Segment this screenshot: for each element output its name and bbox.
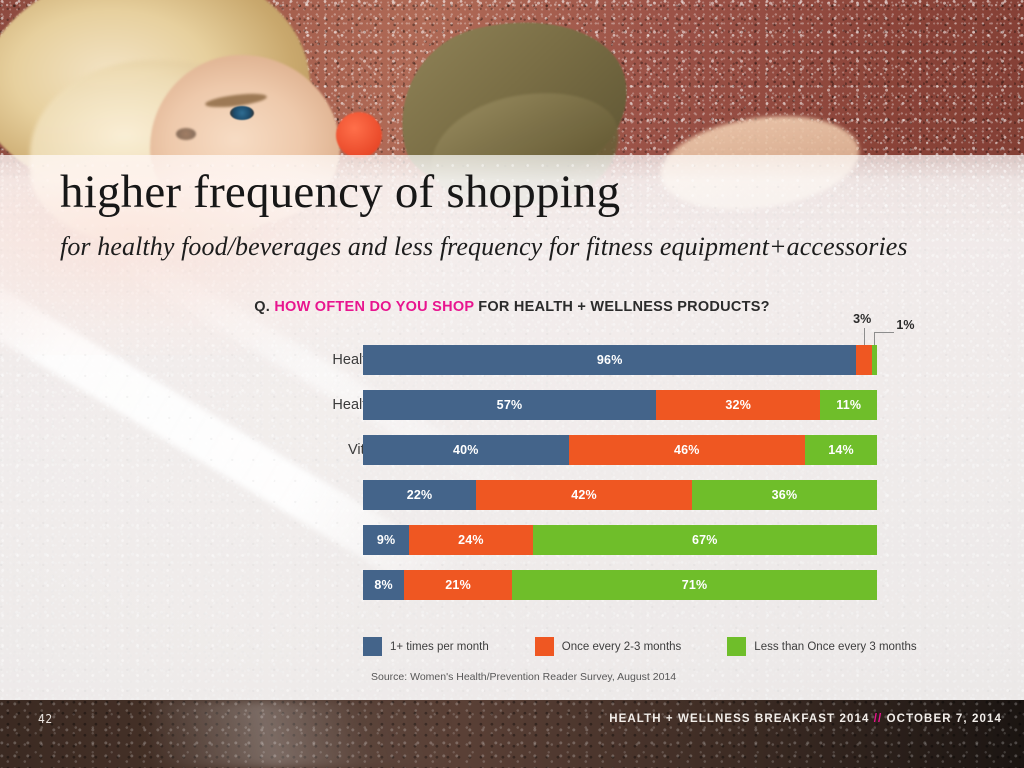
stacked-bar: 22%42%36% bbox=[363, 480, 877, 510]
bar-segment-value: 67% bbox=[692, 533, 718, 547]
stacked-bar: 96%3%1% bbox=[363, 345, 877, 375]
footer-event-label: HEALTH + WELLNESS BREAKFAST 2014 // OCTO… bbox=[609, 713, 1002, 725]
bar-segment-value: 14% bbox=[828, 443, 854, 457]
callout-leader-1-elbow bbox=[874, 332, 894, 333]
bar-segment: 40% bbox=[363, 435, 569, 465]
stacked-bar: 9%24%67% bbox=[363, 525, 877, 555]
slide: higher frequency of shopping for healthy… bbox=[0, 0, 1024, 768]
bar-segment: 24% bbox=[409, 525, 532, 555]
bar-segment-value: 8% bbox=[374, 578, 392, 592]
footer-highlight bbox=[150, 700, 450, 768]
bar-segment: 57% bbox=[363, 390, 656, 420]
legend-item[interactable]: Less than Once every 3 months bbox=[727, 637, 916, 656]
footer-bar bbox=[0, 700, 1024, 768]
bar-segment: 9% bbox=[363, 525, 409, 555]
bar-segment-value: 96% bbox=[597, 353, 623, 367]
stacked-bar: 40%46%14% bbox=[363, 435, 877, 465]
chart-row: Healthy Beauty Products57%32%11% bbox=[0, 390, 1024, 420]
bar-segment-value: 22% bbox=[407, 488, 433, 502]
bar-segment: 14% bbox=[805, 435, 877, 465]
chart-row: Fitness Accessories9%24%67% bbox=[0, 525, 1024, 555]
stacked-bar: 57%32%11% bbox=[363, 390, 877, 420]
bar-segment: 96% bbox=[363, 345, 856, 375]
callout-label-3: 3% bbox=[853, 312, 871, 326]
legend-label: Once every 2-3 months bbox=[562, 641, 682, 653]
source-note: Source: Women's Health/Prevention Reader… bbox=[371, 671, 676, 683]
bar-segment-value: 71% bbox=[682, 578, 708, 592]
legend-label: 1+ times per month bbox=[390, 641, 489, 653]
legend-swatch bbox=[535, 637, 554, 656]
callout-leader-1 bbox=[874, 332, 875, 345]
bar-segment: 11% bbox=[820, 390, 877, 420]
chart-row: Fitness Apparel22%42%36% bbox=[0, 480, 1024, 510]
bar-segment-value: 11% bbox=[836, 398, 861, 412]
bar-segment-value: 57% bbox=[497, 398, 523, 412]
stacked-bar: 8%21%71% bbox=[363, 570, 877, 600]
chart-legend: 1+ times per monthOnce every 2-3 monthsL… bbox=[363, 637, 963, 656]
bar-segment: 22% bbox=[363, 480, 476, 510]
legend-swatch bbox=[363, 637, 382, 656]
page-number: 42 bbox=[38, 712, 53, 726]
chart-row: Vitamins/Supplements40%46%14% bbox=[0, 435, 1024, 465]
bar-segment: 8% bbox=[363, 570, 404, 600]
bar-segment: 1% bbox=[872, 345, 877, 375]
bar-segment: 71% bbox=[512, 570, 877, 600]
bar-segment: 36% bbox=[692, 480, 877, 510]
bar-segment-value: 40% bbox=[453, 443, 479, 457]
legend-item[interactable]: 1+ times per month bbox=[363, 637, 489, 656]
bar-segment-value: 9% bbox=[377, 533, 395, 547]
footer-event: HEALTH + WELLNESS BREAKFAST 2014 bbox=[609, 713, 874, 725]
bar-segment: 67% bbox=[533, 525, 877, 555]
legend-swatch bbox=[727, 637, 746, 656]
legend-item[interactable]: Once every 2-3 months bbox=[535, 637, 682, 656]
bar-segment-value: 42% bbox=[571, 488, 597, 502]
bar-segment-value: 46% bbox=[674, 443, 700, 457]
callout-label-1: 1% bbox=[896, 318, 914, 332]
bar-segment-value: 24% bbox=[458, 533, 484, 547]
bar-segment: 46% bbox=[569, 435, 805, 465]
bar-segment: 32% bbox=[656, 390, 820, 420]
bar-segment: 42% bbox=[476, 480, 692, 510]
bar-segment: 3% bbox=[856, 345, 871, 375]
bar-segment-value: 36% bbox=[772, 488, 798, 502]
legend-label: Less than Once every 3 months bbox=[754, 641, 916, 653]
footer-date: OCTOBER 7, 2014 bbox=[882, 713, 1002, 725]
callout-leader-3 bbox=[864, 328, 865, 345]
bar-segment: 21% bbox=[404, 570, 512, 600]
chart-row: Fitness Equipment8%21%71% bbox=[0, 570, 1024, 600]
bar-segment-value: 21% bbox=[445, 578, 471, 592]
bar-segment-value: 32% bbox=[725, 398, 751, 412]
chart-row: Healthy Food/Beverages96%3%1% bbox=[0, 345, 1024, 375]
